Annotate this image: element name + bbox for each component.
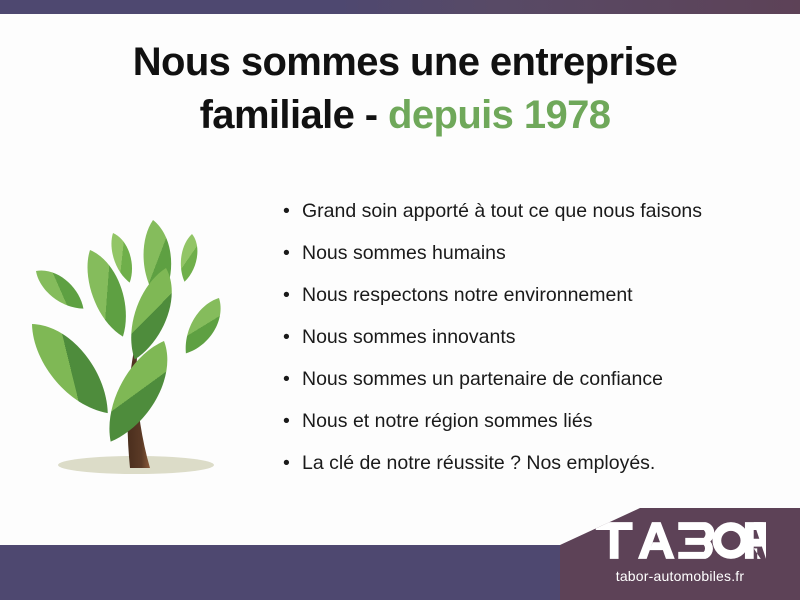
list-item: • La clé de notre réussite ? Nos employé… <box>283 442 773 484</box>
bullet-marker-icon: • <box>283 274 302 316</box>
brand-wordmark <box>594 522 766 563</box>
page-title: Nous sommes une entreprise familiale - d… <box>60 36 750 142</box>
list-item: • Nous sommes humains <box>283 232 773 274</box>
list-item-label: Nous et notre région sommes liés <box>302 400 592 442</box>
top-accent-bar <box>0 0 800 14</box>
bullet-marker-icon: • <box>283 442 302 484</box>
bullet-marker-icon: • <box>283 232 302 274</box>
list-item: • Grand soin apporté à tout ce que nous … <box>283 190 773 232</box>
list-item: • Nous respectons notre environnement <box>283 274 773 316</box>
headline-line-1: Nous sommes une entreprise <box>133 40 678 84</box>
bullet-marker-icon: • <box>283 190 302 232</box>
list-item-label: Nous sommes un partenaire de confiance <box>302 358 663 400</box>
bullet-marker-icon: • <box>283 400 302 442</box>
list-item-label: Nous sommes innovants <box>302 316 516 358</box>
slide-canvas: Nous sommes une entreprise familiale - d… <box>0 0 800 600</box>
list-item-label: Nous respectons notre environnement <box>302 274 633 316</box>
headline-line-2-plain: familiale - <box>200 93 378 137</box>
list-item: • Nous sommes un partenaire de confiance <box>283 358 773 400</box>
list-item-label: La clé de notre réussite ? Nos employés. <box>302 442 655 484</box>
brand-logo-panel: tabor-automobiles.fr <box>560 508 800 600</box>
bullet-marker-icon: • <box>283 358 302 400</box>
headline-line-2-accent: depuis 1978 <box>388 93 610 137</box>
brand-url: tabor-automobiles.fr <box>616 568 745 584</box>
bullet-marker-icon: • <box>283 316 302 358</box>
list-item-label: Grand soin apporté à tout ce que nous fa… <box>302 190 702 232</box>
value-bullet-list: • Grand soin apporté à tout ce que nous … <box>283 190 773 484</box>
left-edge-strip <box>0 14 4 545</box>
tree-leaf-group <box>22 220 232 450</box>
list-item-label: Nous sommes humains <box>302 232 506 274</box>
tree-illustration <box>14 178 264 488</box>
list-item: • Nous et notre région sommes liés <box>283 400 773 442</box>
list-item: • Nous sommes innovants <box>283 316 773 358</box>
